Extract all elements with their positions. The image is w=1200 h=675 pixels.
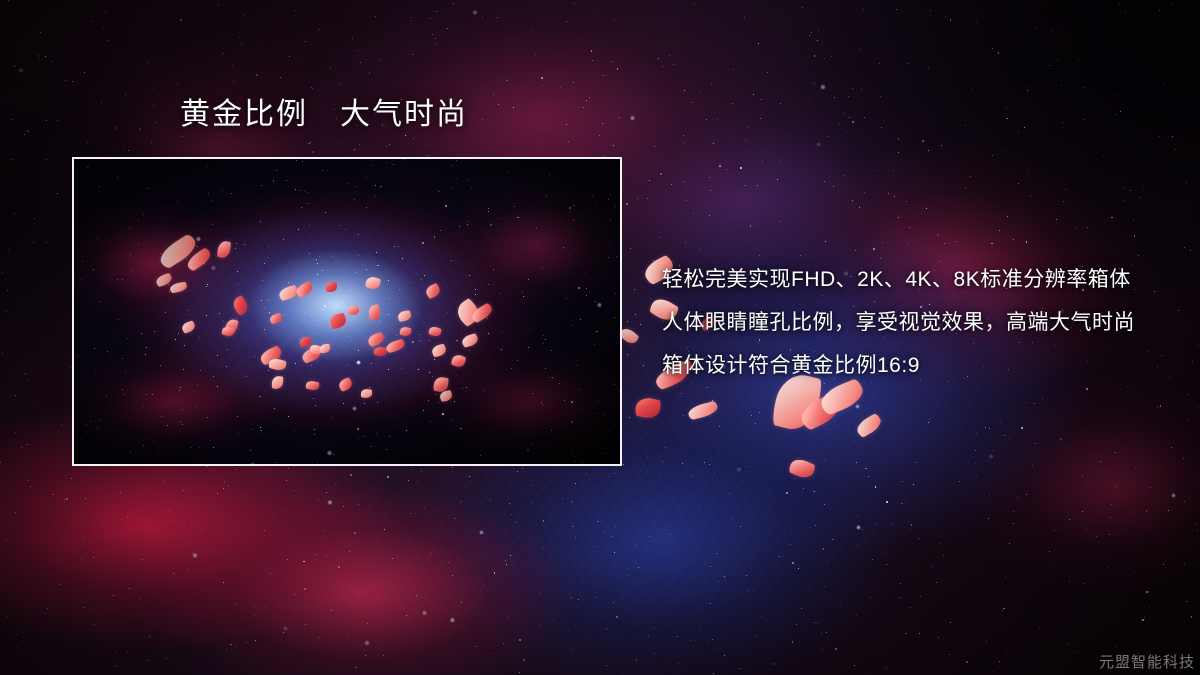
presentation-slide: 黄金比例 大气时尚 轻松完美实现FHD、2K、4K、8K标准分辨率箱体 人体眼睛… — [0, 0, 1200, 675]
page-title: 黄金比例 大气时尚 — [180, 100, 468, 130]
photo-vignette — [74, 159, 620, 464]
body-line-1: 轻松完美实现FHD、2K、4K、8K标准分辨率箱体 — [662, 258, 1182, 301]
watermark: 元盟智能科技 — [1099, 651, 1195, 672]
photo-image — [74, 159, 620, 464]
framed-photo — [72, 157, 622, 466]
body-line-2: 人体眼睛瞳孔比例，享受视觉效果，高端大气时尚 — [662, 301, 1182, 344]
body-text-block: 轻松完美实现FHD、2K、4K、8K标准分辨率箱体 人体眼睛瞳孔比例，享受视觉效… — [662, 258, 1182, 387]
body-line-3: 箱体设计符合黄金比例16:9 — [662, 344, 1182, 387]
